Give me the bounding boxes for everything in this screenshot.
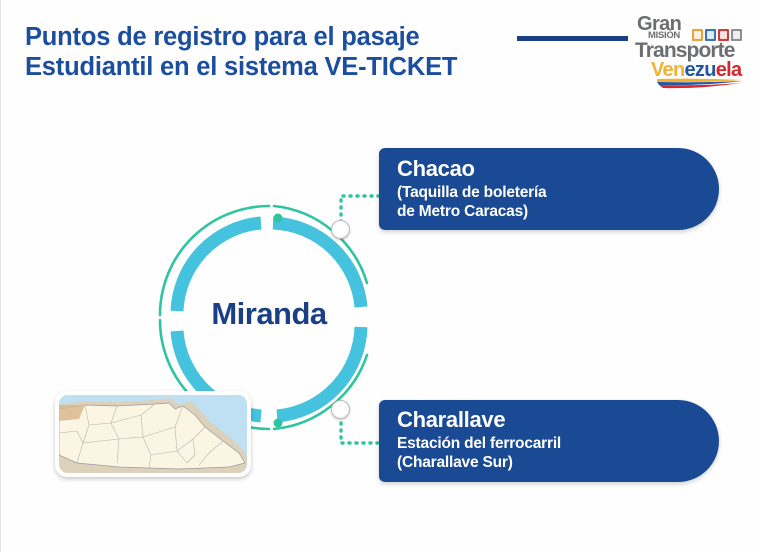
ring-anchor-dot-top	[274, 214, 283, 223]
ring-segment-top-right	[273, 223, 361, 307]
map-image	[59, 395, 247, 473]
page-title: Puntos de registro para el pasaje Estudi…	[25, 22, 545, 82]
location-card-charallave[interactable]: Charallave Estación del ferrocarril (Cha…	[379, 400, 719, 482]
card-title-chacao: Chacao	[397, 156, 719, 182]
slide-canvas: Puntos de registro para el pasaje Estudi…	[0, 0, 757, 552]
miranda-map-thumbnail[interactable]	[55, 391, 251, 477]
gran-mision-transporte-venezuela-logo: Gran MISIÓN Transporte Venezuela	[635, 14, 753, 92]
hub-label-miranda: Miranda	[149, 296, 389, 332]
location-card-chacao[interactable]: Chacao (Taquilla de boletería de Metro C…	[379, 148, 719, 230]
ring-anchor-dot-bottom	[274, 419, 283, 428]
card-subtitle-chacao: (Taquilla de boletería de Metro Caracas)	[397, 183, 719, 221]
connector-knob-chacao	[331, 220, 350, 239]
card-title-charallave: Charallave	[397, 407, 719, 433]
connector-knob-charallave	[331, 400, 350, 419]
map-svg	[59, 395, 247, 473]
ring-segment-bottom-right	[277, 327, 361, 416]
title-rule-divider	[517, 36, 628, 41]
venezuela-flag-swoosh-icon	[657, 78, 743, 89]
card-subtitle-charallave: Estación del ferrocarril (Charallave Sur…	[397, 434, 719, 472]
